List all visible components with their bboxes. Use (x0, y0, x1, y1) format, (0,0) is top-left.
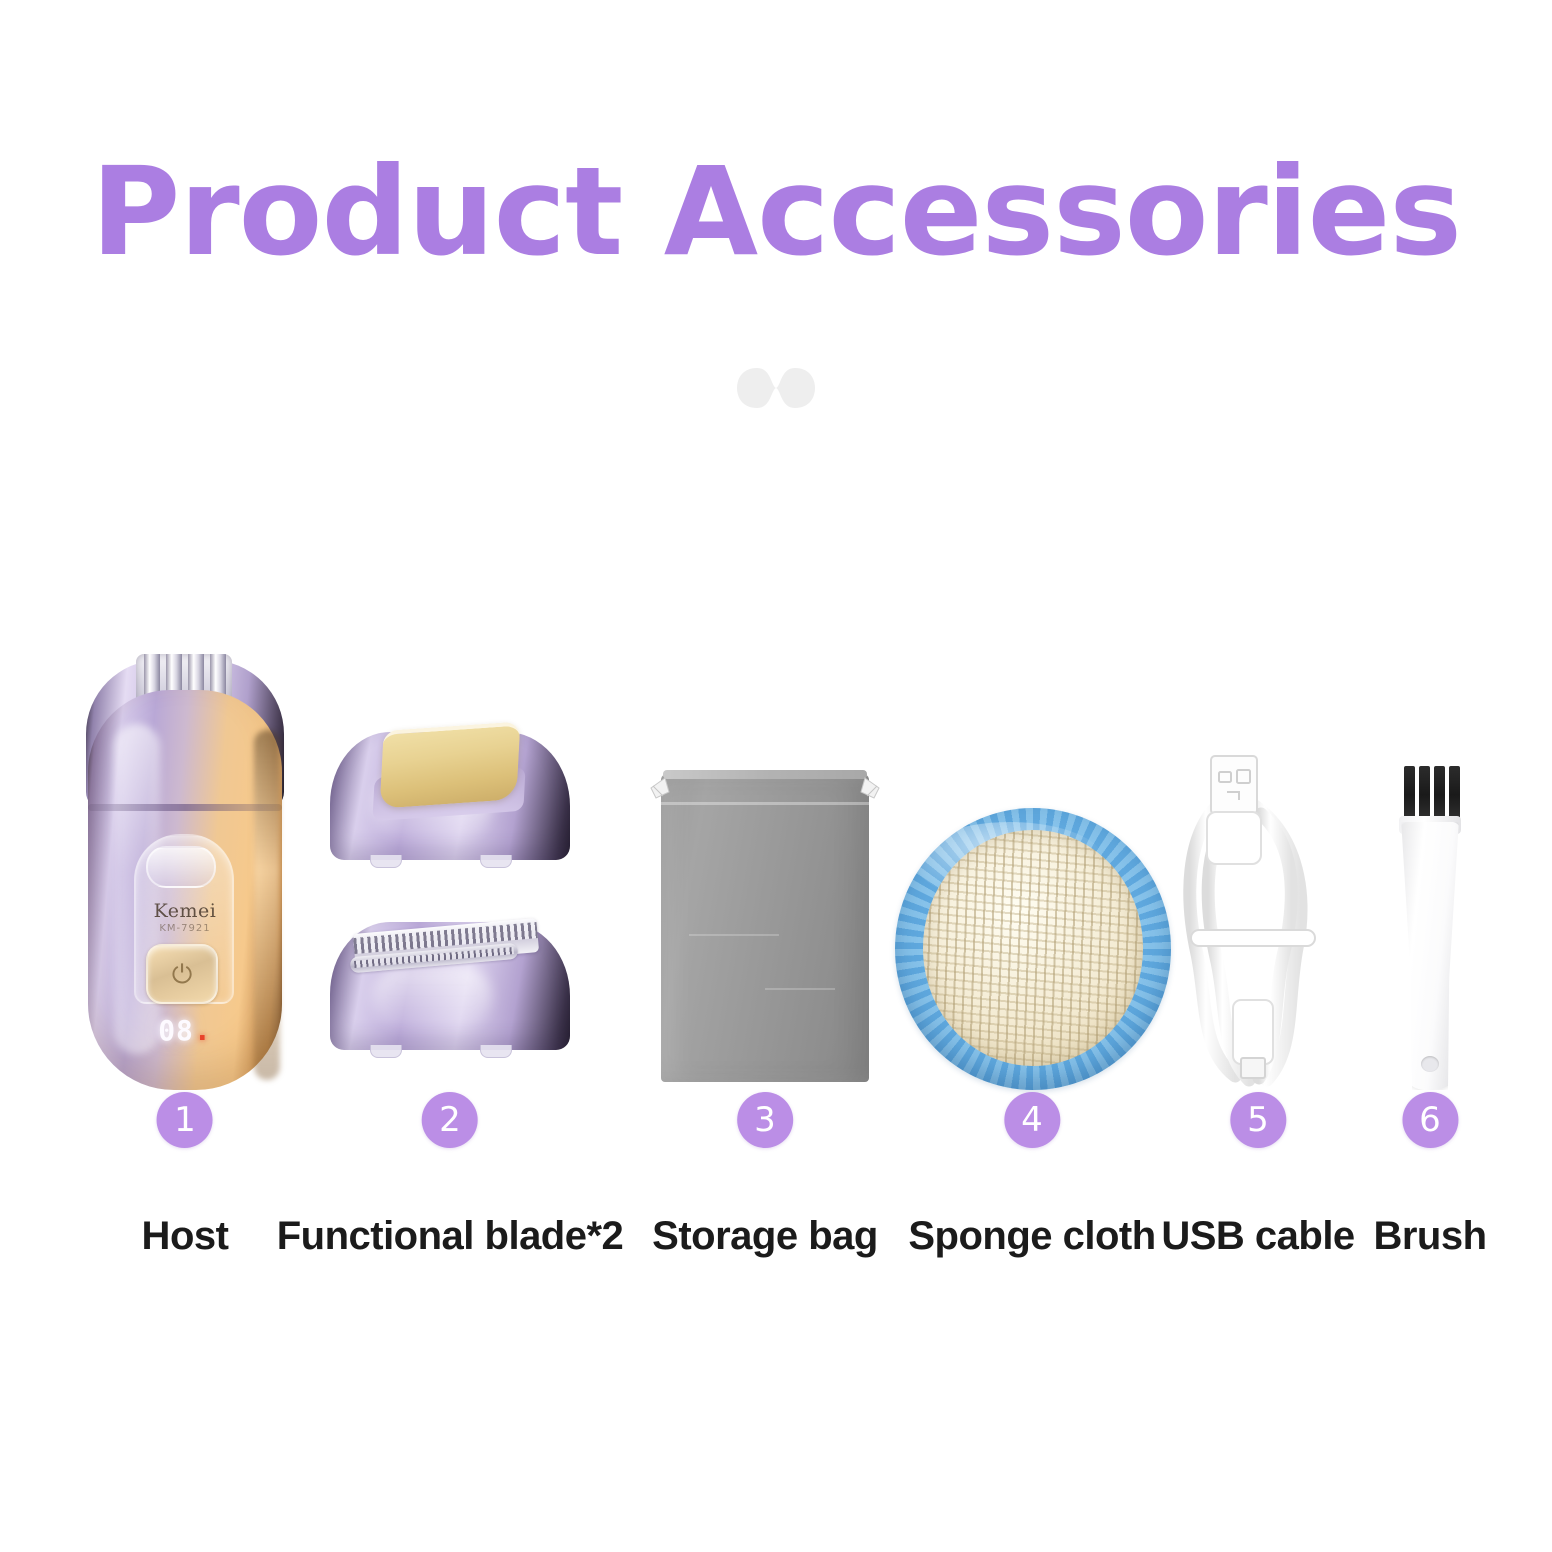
accessory-image-storage-bag (645, 750, 885, 1090)
badge-number-6: 6 (1402, 1092, 1458, 1148)
pouch-drawstring-channel (661, 802, 869, 805)
accessory-image-sponge-cloth (895, 790, 1171, 1090)
brush-handle (1400, 822, 1460, 1090)
pouch-drawstring-left (645, 776, 671, 810)
foil-shaver-head (330, 910, 570, 1058)
bowtie-divider-icon (731, 360, 821, 416)
epilator-host-icon: Kemei KM-7921 ⏻ 08. (80, 638, 290, 1090)
sponge-loofah-mesh (923, 830, 1143, 1066)
drawstring-pouch-icon (645, 758, 885, 1090)
legend-label-functional-blade: Functional blade*2 (277, 1214, 624, 1259)
product-accessories-infographic: Product Accessories (0, 0, 1552, 1552)
host-led-dot: . (194, 1014, 212, 1047)
accessory-image-host: Kemei KM-7921 ⏻ 08. (80, 638, 290, 1090)
legend-label-host: Host (142, 1214, 229, 1259)
legend-item-brush: 6 Brush (1373, 1092, 1486, 1259)
round-loofah-sponge-icon (895, 808, 1171, 1090)
power-icon: ⏻ (148, 946, 216, 1002)
badge-number-2: 2 (422, 1092, 478, 1148)
legend-item-storage-bag: 3 Storage bag (652, 1092, 878, 1259)
badge-number-3: 3 (737, 1092, 793, 1148)
page-title: Product Accessories (0, 148, 1552, 276)
legend-label-sponge-cloth: Sponge cloth (908, 1214, 1155, 1259)
cleaning-brush-icon (1375, 760, 1485, 1090)
accessories-image-row: Kemei KM-7921 ⏻ 08. (0, 560, 1552, 1090)
usb-charging-cable-icon (1175, 750, 1345, 1090)
usb-a-connector (1207, 756, 1261, 864)
host-cap-seam (88, 804, 282, 811)
accessory-image-functional-blades (320, 698, 580, 1090)
legend-label-storage-bag: Storage bag (652, 1214, 878, 1259)
brush-hang-hole (1421, 1056, 1439, 1072)
callus-roller-head (330, 720, 570, 868)
legend-item-functional-blade: 2 Functional blade*2 (277, 1092, 624, 1259)
accessory-image-brush (1375, 754, 1485, 1090)
pouch-drawstring-right (859, 776, 885, 810)
pouch-body (661, 774, 869, 1082)
power-button[interactable]: ⏻ (146, 944, 218, 1004)
legend-item-sponge-cloth: 4 Sponge cloth (908, 1092, 1155, 1259)
accessory-legend: 1 Host 2 Functional blade*2 3 Storage ba… (0, 1092, 1552, 1272)
host-led-display: 08. (80, 1014, 290, 1047)
badge-number-1: 1 (157, 1092, 213, 1148)
shaver-blade-heads-icon (320, 710, 580, 1090)
badge-number-4: 4 (1004, 1092, 1060, 1148)
legend-item-host: 1 Host (142, 1092, 229, 1259)
accessory-image-usb-cable (1175, 744, 1345, 1090)
pouch-top-edge (663, 770, 867, 779)
host-panel-slot (146, 846, 216, 888)
legend-label-brush: Brush (1373, 1214, 1486, 1259)
badge-number-5: 5 (1230, 1092, 1286, 1148)
host-led-value: 08 (158, 1014, 194, 1047)
legend-item-usb-cable: 5 USB cable (1161, 1092, 1354, 1259)
cable-tie (1191, 930, 1315, 946)
callus-roller (380, 721, 521, 808)
host-model-text: KM-7921 (80, 923, 290, 934)
host-brand-text: Kemei (80, 900, 290, 922)
legend-label-usb-cable: USB cable (1161, 1214, 1354, 1259)
